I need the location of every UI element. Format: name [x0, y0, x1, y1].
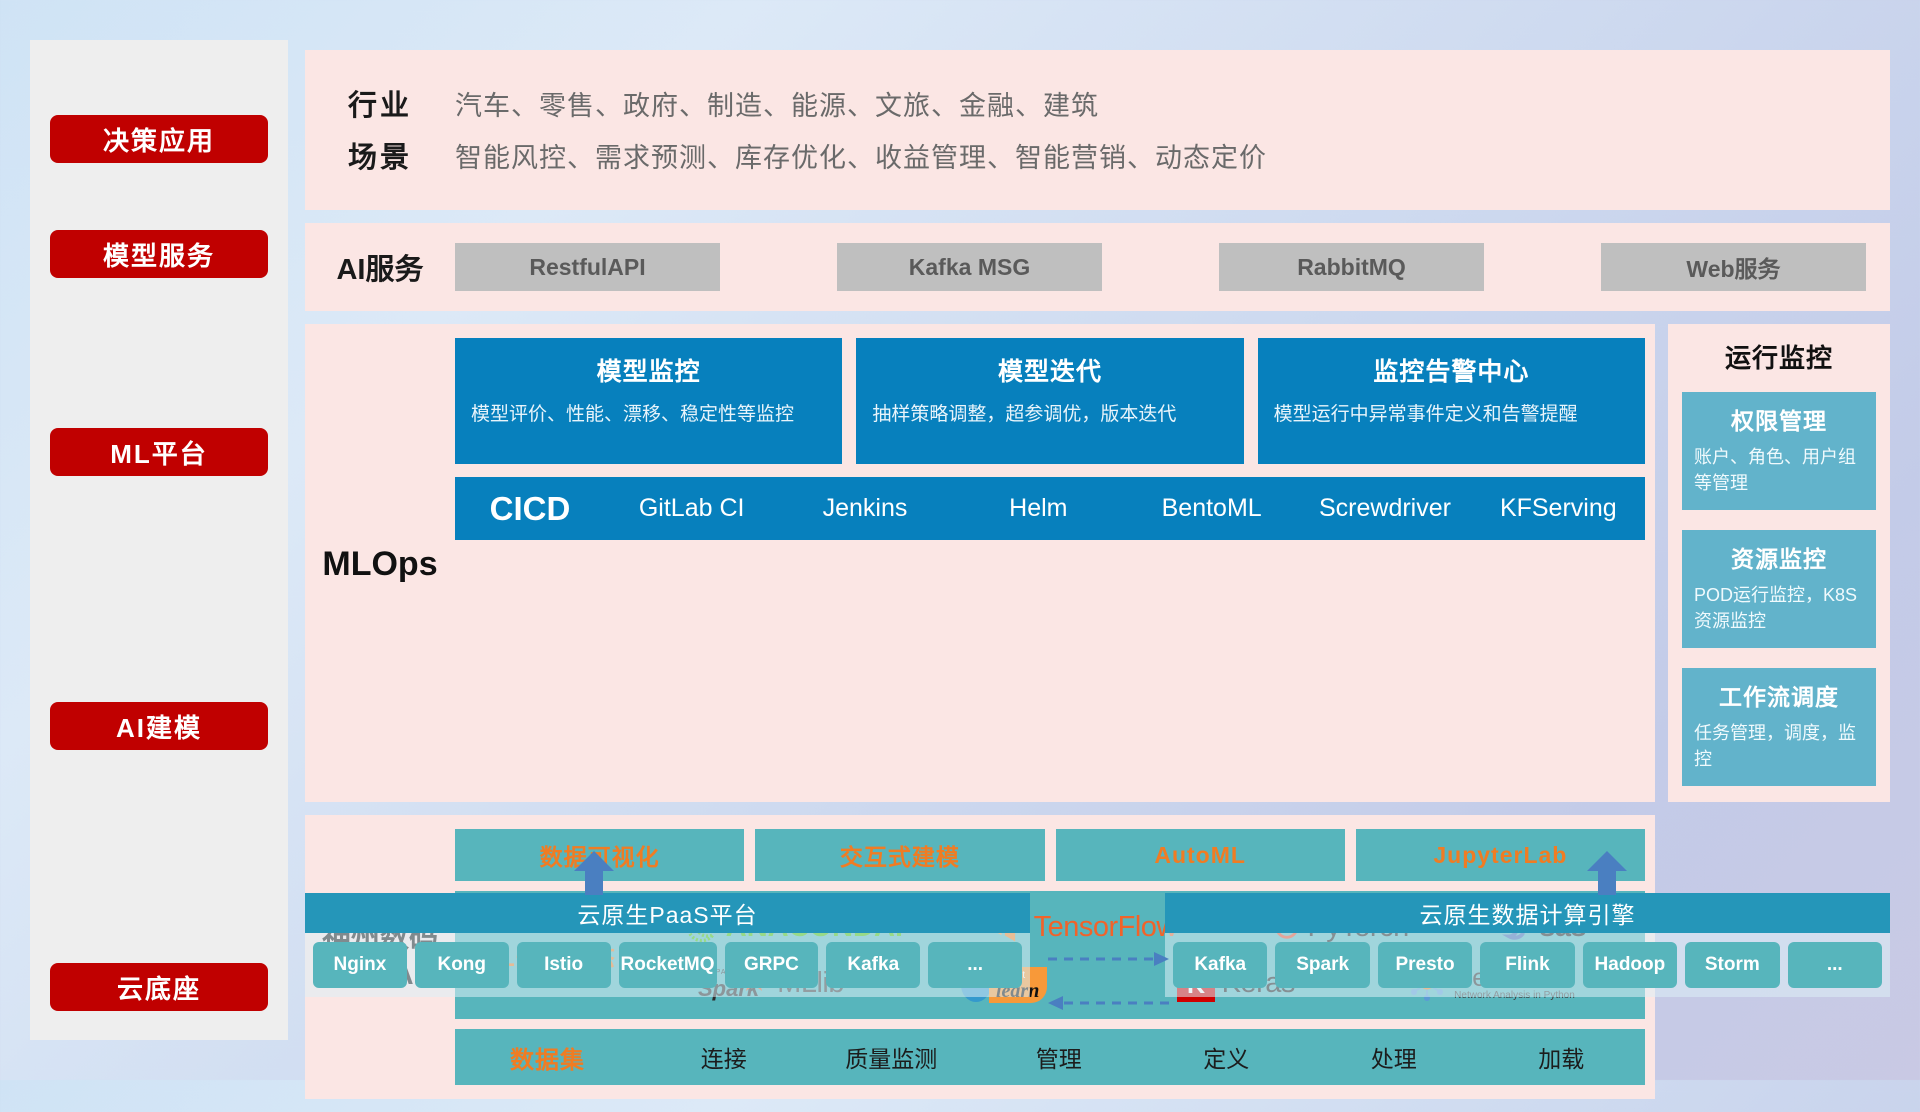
dataset-item-connect[interactable]: 连接	[640, 1040, 808, 1074]
engine-chip-more[interactable]: ...	[1788, 942, 1882, 988]
monitoring-card-desc: POD运行监控，K8S资源监控	[1694, 583, 1864, 634]
dataset-item-define[interactable]: 定义	[1143, 1040, 1311, 1074]
industry-values: 汽车、零售、政府、制造、能源、文旅、金融、建筑	[455, 84, 1099, 123]
cicd-tool-gitlab-ci[interactable]: GitLab CI	[605, 494, 778, 523]
dataset-capability-list: 连接 质量监测 管理 定义 处理 加载	[640, 1040, 1645, 1074]
dataset-item-manage[interactable]: 管理	[975, 1040, 1143, 1074]
up-arrow-icon-paas	[570, 849, 618, 897]
ml-lab-tab-list: 数据可视化 交互式建模 AutoML JupyterLab	[455, 829, 1645, 881]
paas-chip-list: Nginx Kong Istio RocketMQ GRPC Kafka ...	[305, 933, 1030, 997]
paas-chip-kong[interactable]: Kong	[415, 942, 509, 988]
arrow-head-left	[1048, 996, 1063, 1010]
scenario-values: 智能风控、需求预测、库存优化、收益管理、智能营销、动态定价	[455, 136, 1267, 175]
scenario-label: 场景	[305, 134, 455, 176]
layer-chip-ai-modeling[interactable]: AI建模	[50, 702, 268, 750]
mlops-card-desc: 抽样策略调整，超参调优，版本迭代	[872, 401, 1227, 429]
tab-interactive-modeling[interactable]: 交互式建模	[755, 829, 1044, 881]
layer-rail: 决策应用 模型服务 ML平台 AI建模 云底座	[30, 40, 288, 1040]
mlops-label: MLOps	[305, 338, 455, 790]
up-arrow-icon-engine	[1583, 849, 1631, 897]
monitoring-card-desc: 账户、角色、用户组等管理	[1694, 445, 1864, 496]
layer-chip-cloud-base[interactable]: 云底座	[50, 963, 268, 1011]
monitoring-card-title: 资源监控	[1694, 540, 1864, 574]
ai-service-band: AI服务 RestfulAPI Kafka MSG RabbitMQ Web服务	[305, 223, 1890, 311]
paas-chip-kafka[interactable]: Kafka	[826, 942, 920, 988]
paas-chip-more[interactable]: ...	[928, 942, 1022, 988]
mlops-card-desc: 模型运行中异常事件定义和告警提醒	[1274, 401, 1629, 429]
engine-chip-spark[interactable]: Spark	[1275, 942, 1369, 988]
mlops-content: 模型监控 模型评价、性能、漂移、稳定性等监控 模型迭代 抽样策略调整，超参调优，…	[455, 338, 1655, 790]
data-engine-group: 云原生数据计算引擎 Kafka Spark Presto Flink Hadoo…	[1165, 893, 1890, 997]
bidirectional-link-arrows	[1046, 945, 1171, 1017]
layer-chip-decision[interactable]: 决策应用	[50, 115, 268, 163]
data-engine-title: 云原生数据计算引擎	[1165, 893, 1890, 933]
mlops-card-title: 模型迭代	[872, 352, 1227, 388]
engine-chip-flink[interactable]: Flink	[1480, 942, 1574, 988]
paas-chip-istio[interactable]: Istio	[517, 942, 611, 988]
paas-chip-grpc[interactable]: GRPC	[725, 942, 819, 988]
dataset-item-load[interactable]: 加载	[1478, 1040, 1646, 1074]
mlops-card-alert-center[interactable]: 监控告警中心 模型运行中异常事件定义和告警提醒	[1258, 338, 1645, 464]
ai-service-chip-kafka-msg[interactable]: Kafka MSG	[837, 243, 1102, 291]
industry-label: 行业	[305, 82, 455, 124]
mlops-monitoring-row: MLOps 模型监控 模型评价、性能、漂移、稳定性等监控 模型迭代 抽样策略调整…	[305, 324, 1890, 802]
cicd-tool-kfserving[interactable]: KFServing	[1472, 494, 1645, 523]
monitoring-card-workflow[interactable]: 工作流调度 任务管理，调度，监控	[1682, 668, 1876, 786]
mlops-card-title: 监控告警中心	[1274, 352, 1629, 388]
paas-platform-group: 云原生PaaS平台 Nginx Kong Istio RocketMQ GRPC…	[305, 893, 1030, 997]
industry-row: 行业 汽车、零售、政府、制造、能源、文旅、金融、建筑	[305, 82, 1890, 124]
ai-service-chip-restfulapi[interactable]: RestfulAPI	[455, 243, 720, 291]
monitoring-title: 运行监控	[1682, 338, 1876, 375]
cicd-bar: CICD GitLab CI Jenkins Helm BentoML Scre…	[455, 477, 1645, 540]
dataset-item-process[interactable]: 处理	[1310, 1040, 1478, 1074]
mlops-card-title: 模型监控	[471, 352, 826, 388]
layer-chip-model-service[interactable]: 模型服务	[50, 230, 268, 278]
engine-chip-storm[interactable]: Storm	[1685, 942, 1779, 988]
paas-platform-title: 云原生PaaS平台	[305, 893, 1030, 933]
ai-service-label: AI服务	[305, 246, 455, 288]
monitoring-card-permission[interactable]: 权限管理 账户、角色、用户组等管理	[1682, 392, 1876, 510]
paas-chip-rocketmq[interactable]: RocketMQ	[619, 942, 717, 988]
mlops-card-model-monitoring[interactable]: 模型监控 模型评价、性能、漂移、稳定性等监控	[455, 338, 842, 464]
scenario-row: 场景 智能风控、需求预测、库存优化、收益管理、智能营销、动态定价	[305, 134, 1890, 176]
ai-service-chip-web-service[interactable]: Web服务	[1601, 243, 1866, 291]
engine-chip-hadoop[interactable]: Hadoop	[1583, 942, 1677, 988]
layer-chip-ml-platform[interactable]: ML平台	[50, 428, 268, 476]
mlops-card-model-iteration[interactable]: 模型迭代 抽样策略调整，超参调优，版本迭代	[856, 338, 1243, 464]
arrow-head-right	[1154, 952, 1169, 966]
mlops-band: MLOps 模型监控 模型评价、性能、漂移、稳定性等监控 模型迭代 抽样策略调整…	[305, 324, 1655, 802]
cicd-label: CICD	[455, 490, 605, 528]
dataset-item-quality[interactable]: 质量监测	[808, 1040, 976, 1074]
cicd-tool-helm[interactable]: Helm	[952, 494, 1125, 523]
cicd-tool-jenkins[interactable]: Jenkins	[778, 494, 951, 523]
engine-chip-list: Kafka Spark Presto Flink Hadoop Storm ..…	[1165, 933, 1890, 997]
monitoring-column: 运行监控 权限管理 账户、角色、用户组等管理 资源监控 POD运行监控，K8S资…	[1668, 324, 1890, 802]
ai-service-chip-rabbitmq[interactable]: RabbitMQ	[1219, 243, 1484, 291]
paas-chip-nginx[interactable]: Nginx	[313, 942, 407, 988]
cicd-tool-bentoml[interactable]: BentoML	[1125, 494, 1298, 523]
engine-chip-kafka[interactable]: Kafka	[1173, 942, 1267, 988]
application-band: 行业 汽车、零售、政府、制造、能源、文旅、金融、建筑 场景 智能风控、需求预测、…	[305, 50, 1890, 210]
monitoring-card-resource[interactable]: 资源监控 POD运行监控，K8S资源监控	[1682, 530, 1876, 648]
tab-automl[interactable]: AutoML	[1056, 829, 1345, 881]
engine-chip-presto[interactable]: Presto	[1378, 942, 1472, 988]
monitoring-card-title: 权限管理	[1694, 402, 1864, 436]
dataset-label: 数据集	[455, 1040, 640, 1075]
mlops-card-list: 模型监控 模型评价、性能、漂移、稳定性等监控 模型迭代 抽样策略调整，超参调优，…	[455, 338, 1645, 464]
monitoring-card-title: 工作流调度	[1694, 678, 1864, 712]
ai-service-chip-list: RestfulAPI Kafka MSG RabbitMQ Web服务	[455, 243, 1890, 291]
mlops-card-desc: 模型评价、性能、漂移、稳定性等监控	[471, 401, 826, 429]
monitoring-card-desc: 任务管理，调度，监控	[1694, 721, 1864, 772]
cicd-tool-screwdriver[interactable]: Screwdriver	[1298, 494, 1471, 523]
cicd-tool-list: GitLab CI Jenkins Helm BentoML Screwdriv…	[605, 494, 1645, 523]
